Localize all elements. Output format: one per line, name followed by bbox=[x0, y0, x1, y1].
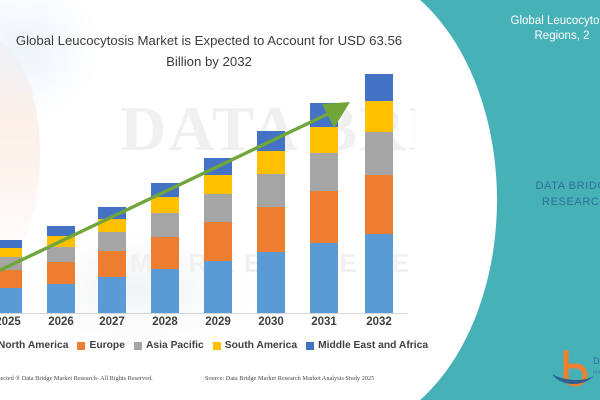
bar-segment-2032-south-america bbox=[365, 101, 393, 131]
bar-2029 bbox=[204, 158, 232, 313]
bar-segment-2027-asia-pacific bbox=[98, 232, 126, 251]
bar-segment-2026-asia-pacific bbox=[47, 247, 75, 262]
bar-segment-2032-north-america bbox=[365, 234, 393, 313]
bar-segment-2029-asia-pacific bbox=[204, 194, 232, 222]
bar-segment-2031-middle-east-and-africa bbox=[310, 103, 338, 127]
x-tick-2030: 2030 bbox=[241, 316, 301, 328]
logo-wordmark-main: DATA BRIDGE bbox=[593, 356, 600, 366]
x-axis-line bbox=[0, 313, 408, 314]
bar-segment-2025-europe bbox=[0, 270, 22, 288]
bar-segment-2030-south-america bbox=[257, 151, 285, 174]
bar-segment-2028-middle-east-and-africa bbox=[151, 183, 179, 197]
page-title: Global Leucocytosis Market is Expected t… bbox=[0, 30, 424, 72]
legend-swatch-icon bbox=[77, 342, 85, 350]
legend-swatch-icon bbox=[306, 342, 314, 350]
bar-segment-2027-north-america bbox=[98, 277, 126, 313]
legend-item-middle-east-and-africa[interactable]: Middle East and Africa bbox=[306, 340, 428, 351]
legend-item-south-america[interactable]: South America bbox=[213, 340, 297, 351]
legend-label: Europe bbox=[89, 340, 124, 351]
bar-segment-2026-north-america bbox=[47, 284, 75, 313]
bar-segment-2030-asia-pacific bbox=[257, 174, 285, 207]
panel-title-line1: Global Leucocytosis bbox=[511, 15, 600, 27]
bar-segment-2025-middle-east-and-africa bbox=[0, 240, 22, 248]
bar-segment-2027-europe bbox=[98, 251, 126, 277]
legend-item-europe[interactable]: Europe bbox=[77, 340, 124, 351]
panel-brand-name: DATA BRIDGE RESEARCH bbox=[485, 178, 600, 210]
bar-segment-2032-middle-east-and-africa bbox=[365, 74, 393, 101]
bar-2025 bbox=[0, 240, 22, 313]
footer-source: Source: Data Bridge Market Research Mark… bbox=[205, 375, 374, 382]
legend-label: South America bbox=[225, 340, 297, 351]
bar-segment-2032-asia-pacific bbox=[365, 132, 393, 175]
chart-legend: North AmericaEuropeAsia PacificSouth Ame… bbox=[0, 340, 422, 351]
legend-label: North America bbox=[0, 340, 68, 351]
bar-2030 bbox=[257, 131, 285, 313]
bar-2026 bbox=[47, 226, 75, 313]
teal-side-panel: Global Leucocytosis Regions, 2 20 2032 D… bbox=[415, 0, 600, 400]
x-tick-2032: 2032 bbox=[349, 316, 409, 328]
bar-segment-2026-europe bbox=[47, 262, 75, 284]
bar-segment-2026-south-america bbox=[47, 236, 75, 247]
bar-segment-2026-middle-east-and-africa bbox=[47, 226, 75, 236]
bar-segment-2029-europe bbox=[204, 222, 232, 261]
bar-2028 bbox=[151, 183, 179, 313]
legend-swatch-icon bbox=[213, 342, 221, 350]
bar-segment-2028-south-america bbox=[151, 197, 179, 213]
bar-segment-2031-north-america bbox=[310, 243, 338, 313]
panel-title-line2: Regions, 2 bbox=[462, 29, 600, 44]
bar-segment-2032-europe bbox=[365, 175, 393, 235]
legend-swatch-icon bbox=[134, 342, 142, 350]
legend-item-north-america[interactable]: North America bbox=[0, 340, 68, 351]
page-title-line2: Billion by 2032 bbox=[0, 51, 424, 72]
bar-2032 bbox=[365, 74, 393, 313]
bar-segment-2029-middle-east-and-africa bbox=[204, 158, 232, 175]
bar-segment-2029-north-america bbox=[204, 261, 232, 313]
bar-segment-2030-north-america bbox=[257, 252, 285, 313]
bar-segment-2025-north-america bbox=[0, 288, 22, 313]
bar-segment-2031-europe bbox=[310, 191, 338, 243]
bar-segment-2031-asia-pacific bbox=[310, 153, 338, 191]
legend-label: Middle East and Africa bbox=[318, 340, 428, 351]
legend-label: Asia Pacific bbox=[146, 340, 204, 351]
bar-segment-2025-asia-pacific bbox=[0, 257, 22, 270]
bar-segment-2027-south-america bbox=[98, 219, 126, 232]
logo-wordmark-sub: MARKET RESEARCH bbox=[593, 370, 600, 376]
panel-title: Global Leucocytosis Regions, 2 bbox=[462, 14, 600, 44]
infographic-slide: DATA BRIDGE MARKET RESEARCH Global Leuco… bbox=[0, 0, 600, 400]
bar-segment-2031-south-america bbox=[310, 127, 338, 154]
bar-segment-2028-north-america bbox=[151, 269, 179, 313]
chart-plot-area bbox=[0, 80, 415, 313]
panel-brand-line2: RESEARCH bbox=[542, 196, 600, 208]
bar-segment-2029-south-america bbox=[204, 175, 232, 194]
bar-segment-2028-europe bbox=[151, 237, 179, 269]
x-axis-tick-labels: 20252026202720282029203020312032 bbox=[0, 316, 415, 336]
stacked-bar-chart: 20252026202720282029203020312032 bbox=[0, 80, 415, 330]
x-tick-2029: 2029 bbox=[188, 316, 248, 328]
x-tick-2031: 2031 bbox=[294, 316, 354, 328]
legend-item-asia-pacific[interactable]: Asia Pacific bbox=[134, 340, 204, 351]
bar-segment-2030-europe bbox=[257, 207, 285, 253]
x-tick-2028: 2028 bbox=[135, 316, 195, 328]
bar-2027 bbox=[98, 207, 126, 313]
panel-brand-line1: DATA BRIDGE bbox=[536, 180, 600, 192]
bar-segment-2025-south-america bbox=[0, 248, 22, 257]
bar-segment-2027-middle-east-and-africa bbox=[98, 207, 126, 219]
company-logo-icon bbox=[550, 350, 596, 388]
bar-segment-2028-asia-pacific bbox=[151, 213, 179, 236]
bar-2031 bbox=[310, 103, 338, 313]
page-title-line1: Global Leucocytosis Market is Expected t… bbox=[16, 33, 402, 48]
x-tick-2027: 2027 bbox=[82, 316, 142, 328]
footer-copyright: Protected ® Data Bridge Market Research-… bbox=[0, 375, 153, 382]
company-logo-wordmark: DATA BRIDGE MARKET RESEARCH bbox=[593, 356, 600, 378]
bar-segment-2030-middle-east-and-africa bbox=[257, 131, 285, 151]
